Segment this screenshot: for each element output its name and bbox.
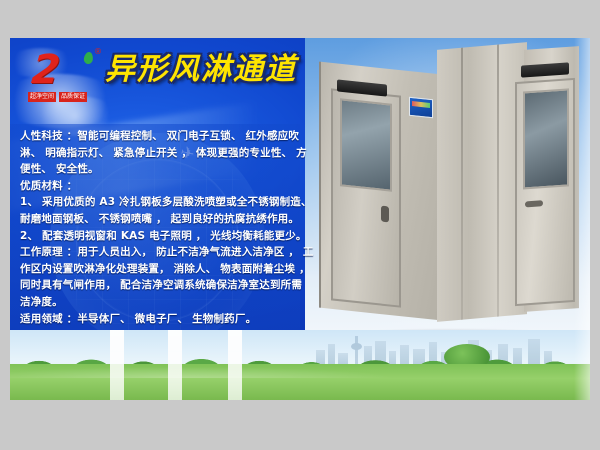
spec-line: 同时具有气闸作用， 配合洁净空调系统确保洁净室达到所需 (20, 277, 294, 294)
white-band (110, 330, 124, 400)
spec-line: 人性科技 ：智能可编程控制、 双门电子互锁、 红外感应吹 (20, 128, 294, 145)
door-handle (525, 200, 543, 207)
registered-trademark-icon: ® (94, 48, 102, 56)
cabin-door-left (331, 88, 401, 307)
spec-line: 耐磨地面钢板、 不锈钢喷嘴 ， 起到良好的抗腐抗绣作用。 (20, 211, 294, 228)
door-window (340, 98, 392, 191)
control-panel-badge (409, 97, 433, 119)
door-handle (381, 206, 389, 223)
spec-line: 工作原理 ：用于人员出入， 防止不洁净气流进入洁净区 ， 工 (20, 244, 294, 261)
logo-tagline-left: 超净空间 (28, 92, 56, 102)
cabin-side-panel (437, 42, 527, 322)
air-shower-cabin (319, 52, 577, 320)
page-title: 异形风淋通道 (105, 50, 297, 90)
spec-line: 1、 采用优质的 A3 冷扎钢板多层酸洗喷塑或全不锈钢制造、 (20, 194, 294, 211)
landscape-footer (10, 330, 590, 400)
product-photo (305, 38, 590, 346)
cabin-door-right (515, 78, 575, 306)
spec-line: 便性、 安全性。 (20, 161, 294, 178)
white-band (228, 330, 242, 400)
logo-tagline: 超净空间 品质保证 (28, 92, 87, 102)
panel-seam (461, 48, 463, 320)
product-poster: ✈ ✈ 2 ® 超净空间 品质保证 异形风淋通道 (10, 38, 590, 400)
brand-logo: 2 ® 超净空间 品质保证 (28, 48, 114, 110)
spec-line: 洁净度。 (20, 294, 294, 311)
white-band (168, 330, 182, 400)
logo-tagline-right: 品质保证 (59, 92, 87, 102)
spec-line: 2、 配套透明视窗和 KAS 电子照明 ， 光线均衡耗能更少。 (20, 228, 294, 245)
panel-seam (497, 45, 499, 317)
spec-line: 作区内设置吹淋净化处理装置， 消除人、 物表面附着尘埃 ， (20, 261, 294, 278)
spec-line: 适用领域 ：半导体厂、 微电子厂、 生物制药厂。 (20, 311, 294, 328)
specification-panel: 人性科技 ：智能可编程控制、 双门电子互锁、 红外感应吹 淋、 明确指示灯、 紧… (10, 124, 300, 346)
grass-field (10, 364, 590, 400)
spec-line: 优质材料 ： (20, 178, 294, 195)
door-window (523, 88, 569, 189)
spec-line: 淋、 明确指示灯、 紧急停止开关 ， 体现更强的专业性、 方 (20, 145, 294, 162)
